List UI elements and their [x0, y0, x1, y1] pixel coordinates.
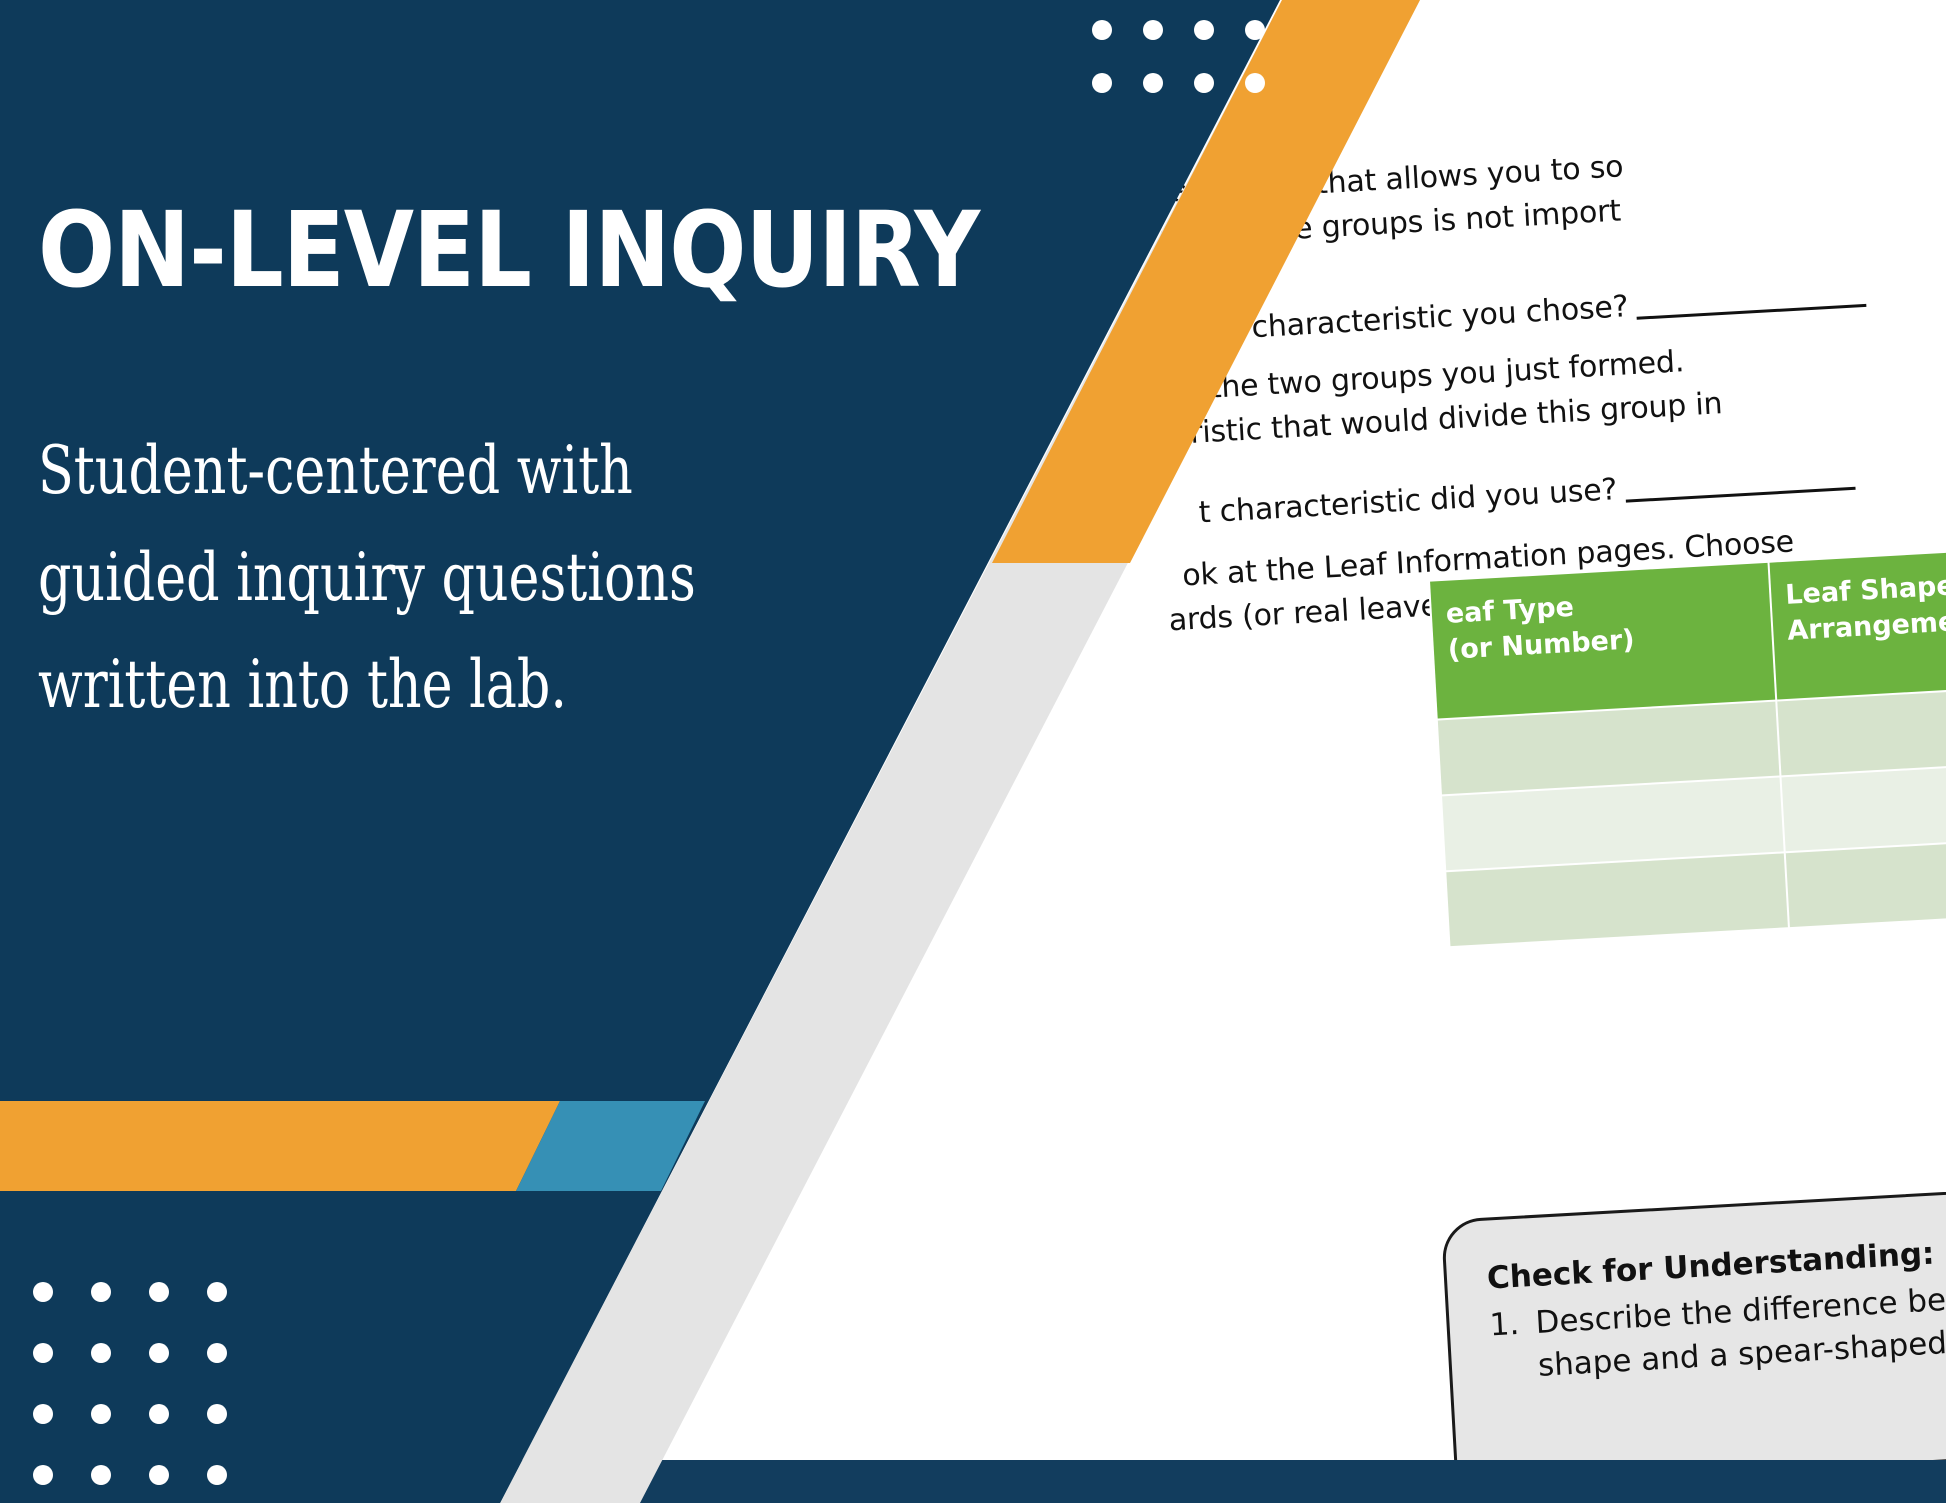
decorative-dot — [33, 1404, 53, 1424]
slide-canvas: acteristic that allows you to so size of… — [0, 0, 1946, 1503]
decorative-dot — [91, 1404, 111, 1424]
worksheet-line-6-text: t characteristic did you use? — [1198, 472, 1618, 530]
decorative-dot — [207, 1404, 227, 1424]
decorative-dot — [149, 1282, 169, 1302]
page-title: ON-LEVEL INQUIRY — [38, 189, 979, 311]
decorative-dot — [33, 1343, 53, 1363]
decorative-dot — [1143, 73, 1163, 93]
dot-grid-bottom-left — [33, 1282, 265, 1503]
leaf-data-table: eaf Type(or Number) Leaf Shape and/orArr… — [1428, 517, 1946, 948]
page-subtitle: Student-centered with guided inquiry que… — [38, 418, 733, 739]
dot-grid-top-right — [1092, 20, 1296, 126]
decorative-dot — [207, 1343, 227, 1363]
decorative-dot — [91, 1465, 111, 1485]
decorative-dot — [149, 1404, 169, 1424]
decorative-dot — [1092, 20, 1112, 40]
decorative-dot — [33, 1465, 53, 1485]
decorative-dot — [1245, 20, 1265, 40]
accent-bar-orange-segment — [0, 1101, 560, 1191]
decorative-dot — [149, 1343, 169, 1363]
decorative-dot — [1092, 73, 1112, 93]
check-for-understanding-box: Check for Understanding: 1. Describe the… — [1441, 1164, 1946, 1460]
decorative-dot — [1194, 20, 1214, 40]
answer-blank-2[interactable] — [1626, 487, 1856, 503]
column-header-leaf-shape: Leaf Shape and/orArrangement — [1768, 541, 1946, 701]
worksheet-line-3: the characteristic you chose? — [1193, 273, 1868, 353]
decorative-dot — [91, 1343, 111, 1363]
column-header-leaf-type: eaf Type(or Number) — [1429, 562, 1776, 720]
decorative-dot — [207, 1465, 227, 1485]
decorative-dot — [207, 1282, 227, 1302]
accent-bar — [0, 1101, 705, 1191]
decorative-dot — [33, 1282, 53, 1302]
decorative-dot — [1194, 73, 1214, 93]
answer-blank-1[interactable] — [1637, 304, 1867, 320]
decorative-dot — [1245, 73, 1265, 93]
decorative-dot — [1143, 20, 1163, 40]
decorative-dot — [91, 1282, 111, 1302]
list-number: 1. — [1489, 1302, 1540, 1390]
bottom-accent-strip — [500, 1460, 1946, 1503]
decorative-dot — [149, 1465, 169, 1485]
